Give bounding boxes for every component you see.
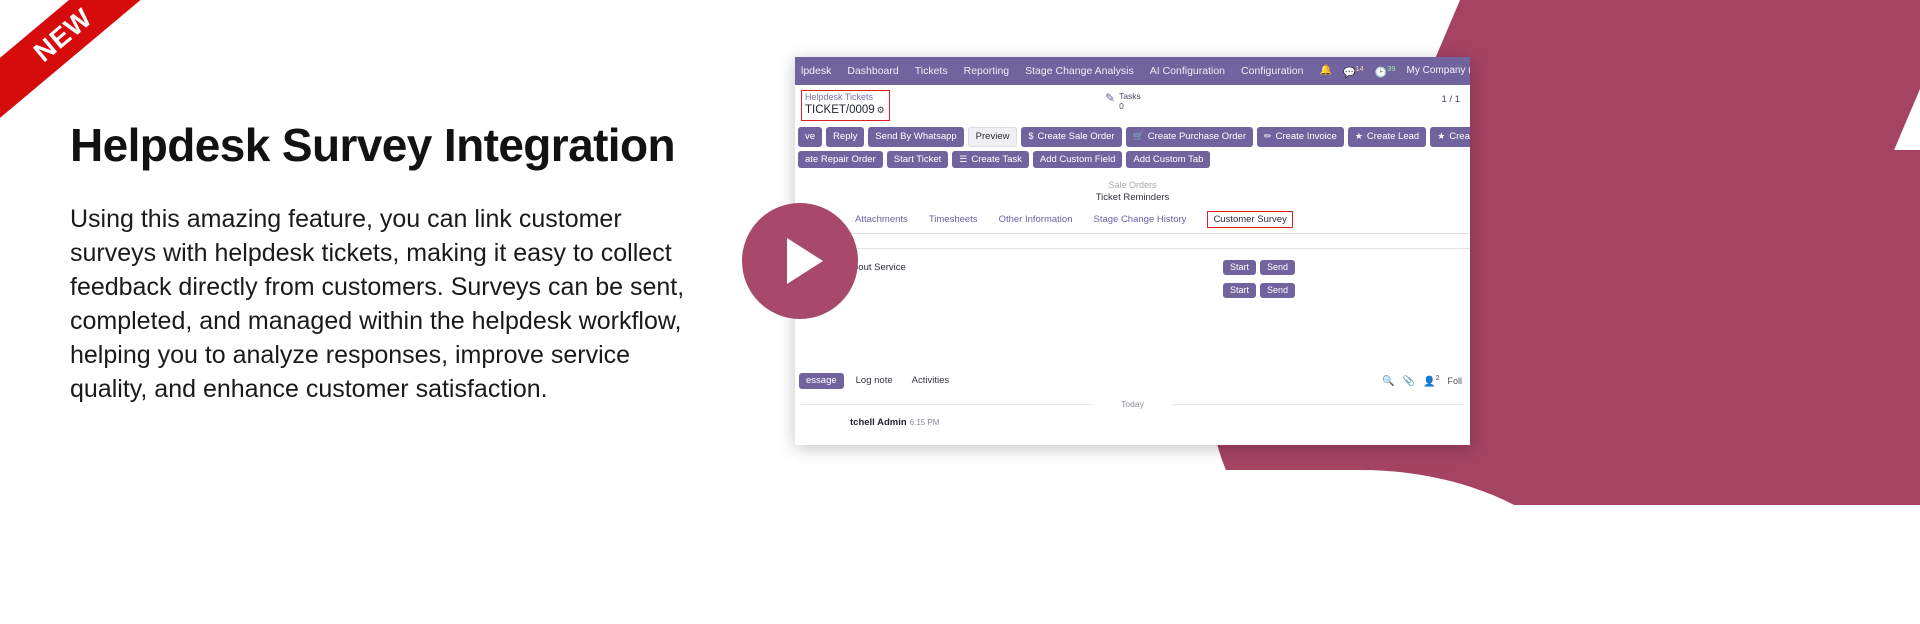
list-icon: ☰ [959,155,967,164]
nav-item-dashboard[interactable]: Dashboard [847,65,898,77]
create-lead-button[interactable]: ★Create Lead [1348,127,1426,147]
invoice-label: Create Invoice [1276,132,1337,142]
chatter-divider [795,248,1470,249]
page-title: Helpdesk Survey Integration [70,120,710,172]
sale-orders-title: Sale Orders [795,180,1470,192]
chat-icon[interactable]: 💬14 [1343,64,1364,78]
ticket-reminders-title: Ticket Reminders [1096,192,1170,203]
cart-icon: 🛒 [1133,132,1144,141]
send-message-button[interactable]: essage [799,373,844,389]
nav-item-ai-configuration[interactable]: AI Configuration [1150,65,1225,77]
survey-row-2-actions: Start Send [1223,283,1295,298]
reply-label: Reply [833,132,857,142]
preview-button[interactable]: Preview [968,127,1018,147]
pager[interactable]: 1 / 1 [1442,94,1461,105]
chatter-toolbar: essage Log note Activities 🔍 📎 👤2 Foll [795,366,1470,389]
action-button-row-2: ate Repair Order Start Ticket ☰Create Ta… [795,151,1470,169]
message-author: tchell Admin [850,417,907,428]
chatter-today-separator: Today [801,399,1464,409]
create-repair-order-button[interactable]: ate Repair Order [798,151,883,169]
tasks-icon: ✎ [1105,91,1115,105]
nav-item-stage-change-analysis[interactable]: Stage Change Analysis [1025,65,1134,77]
today-label: Today [1121,399,1144,409]
nav-item-configuration[interactable]: Configuration [1241,65,1303,77]
follow-button[interactable]: Foll [1447,376,1462,386]
save-button[interactable]: ve [798,127,822,147]
reply-button[interactable]: Reply [826,127,864,147]
create-sale-order-button[interactable]: $Create Sale Order [1021,127,1121,147]
chatter-message: tchell Admin6:15 PM [795,409,1470,428]
record-name: TICKET/0009 [805,104,875,116]
promo-banner: NEW Helpdesk Survey Integration Using th… [0,0,1920,624]
odoo-navbar: lpdesk Dashboard Tickets Reporting Stage… [795,57,1470,85]
customer-survey-panel: bout Service Start Send Start Send [795,248,1470,366]
repair-order-label: ate Repair Order [805,155,876,165]
bell-icon[interactable]: 🔔 [1319,65,1331,76]
notebook-tabs: Attachments Timesheets Other Information… [795,204,1470,234]
opportunity-label: Create Opportunity [1449,132,1470,142]
survey-row-label: bout Service [853,262,906,273]
navbar-brand[interactable]: lpdesk [801,65,831,77]
tab-customer-survey[interactable]: Customer Survey [1207,211,1292,228]
action-button-row-1: ve Reply Send By Whatsapp Preview $Creat… [795,127,1470,147]
gear-icon[interactable]: ⚙ [877,105,885,115]
followers-icon[interactable]: 👤2 [1423,375,1439,387]
survey-start-button-1[interactable]: Start [1223,260,1256,275]
sale-order-label: Create Sale Order [1037,132,1114,142]
tab-stage-change-history[interactable]: Stage Change History [1093,214,1186,225]
survey-row-1-actions: Start Send [1223,260,1295,275]
start-ticket-button[interactable]: Start Ticket [887,151,949,169]
clock-icon[interactable]: 🕑39 [1375,64,1396,78]
breadcrumb-parent[interactable]: Helpdesk Tickets [805,92,885,103]
star-icon: ★ [1355,132,1363,141]
invoice-icon: ✏ [1264,132,1272,141]
tab-attachments[interactable]: Attachments [855,214,908,225]
breadcrumb-record: TICKET/0009⚙ [805,103,885,117]
promo-description: Using this amazing feature, you can link… [70,202,710,406]
stat-value: 0 [1119,101,1124,111]
search-icon[interactable]: 🔍 [1382,376,1394,387]
play-button[interactable] [742,203,858,319]
lead-label: Create Lead [1367,132,1419,142]
dollar-icon: $ [1028,132,1033,141]
create-task-label: Create Task [971,155,1022,165]
new-ribbon-band: NEW [0,0,170,120]
whatsapp-label: Send By Whatsapp [875,132,956,142]
activities-button[interactable]: Activities [905,373,956,389]
stat-text-group: Tasks 0 [1119,91,1141,111]
custom-tab-label: Add Custom Tab [1133,155,1203,165]
survey-send-button-1[interactable]: Send [1260,260,1295,275]
followers-count: 2 [1436,375,1440,382]
log-note-button[interactable]: Log note [849,373,900,389]
company-selector[interactable]: My Company (San Francisco [1407,65,1470,76]
star-icon-2: ★ [1437,132,1445,141]
promo-text-column: Helpdesk Survey Integration Using this a… [70,120,710,406]
survey-start-button-2[interactable]: Start [1223,283,1256,298]
tab-other-information[interactable]: Other Information [999,214,1073,225]
save-label: ve [805,132,815,142]
nav-item-tickets[interactable]: Tickets [915,65,948,77]
action-button-rows: ve Reply Send By Whatsapp Preview $Creat… [795,127,1470,176]
nav-item-reporting[interactable]: Reporting [964,65,1010,77]
play-triangle-icon [787,238,823,284]
new-ribbon: NEW [0,0,170,120]
add-custom-field-button[interactable]: Add Custom Field [1033,151,1123,169]
chatter-right-group: 🔍 📎 👤2 Foll [1382,375,1462,387]
start-ticket-label: Start Ticket [894,155,942,165]
add-custom-tab-button[interactable]: Add Custom Tab [1126,151,1210,169]
navbar-right-group: 🔔 💬14 🕑39 My Company (San Francisco [1319,64,1470,78]
breadcrumb-row: Helpdesk Tickets TICKET/0009⚙ ✎ Tasks 0 … [795,85,1470,127]
stat-button-tasks[interactable]: ✎ Tasks 0 [1105,91,1141,111]
create-opportunity-button[interactable]: ★Create Opportunity [1430,127,1470,147]
new-ribbon-label: NEW [28,2,98,68]
tab-timesheets[interactable]: Timesheets [929,214,978,225]
create-task-button[interactable]: ☰Create Task [952,151,1029,169]
messages-count: 14 [1355,64,1363,73]
background-shape-white-bottom-cut-2 [1500,505,1920,624]
paperclip-icon[interactable]: 📎 [1403,376,1415,387]
message-time: 6:15 PM [910,418,940,427]
survey-send-button-2[interactable]: Send [1260,283,1295,298]
breadcrumb[interactable]: Helpdesk Tickets TICKET/0009⚙ [801,90,890,121]
purchase-order-label: Create Purchase Order [1148,132,1246,142]
form-section-titles: Sale Orders Ticket Reminders [795,176,1470,204]
send-by-whatsapp-button[interactable]: Send By Whatsapp [868,127,963,147]
stat-label: Tasks [1119,91,1141,101]
video-thumbnail-card[interactable]: lpdesk Dashboard Tickets Reporting Stage… [795,57,1470,445]
create-purchase-order-button[interactable]: 🛒Create Purchase Order [1126,127,1253,147]
activities-count: 39 [1387,64,1395,73]
custom-field-label: Add Custom Field [1040,155,1116,165]
preview-label: Preview [976,132,1010,142]
create-invoice-button[interactable]: ✏Create Invoice [1257,127,1344,147]
